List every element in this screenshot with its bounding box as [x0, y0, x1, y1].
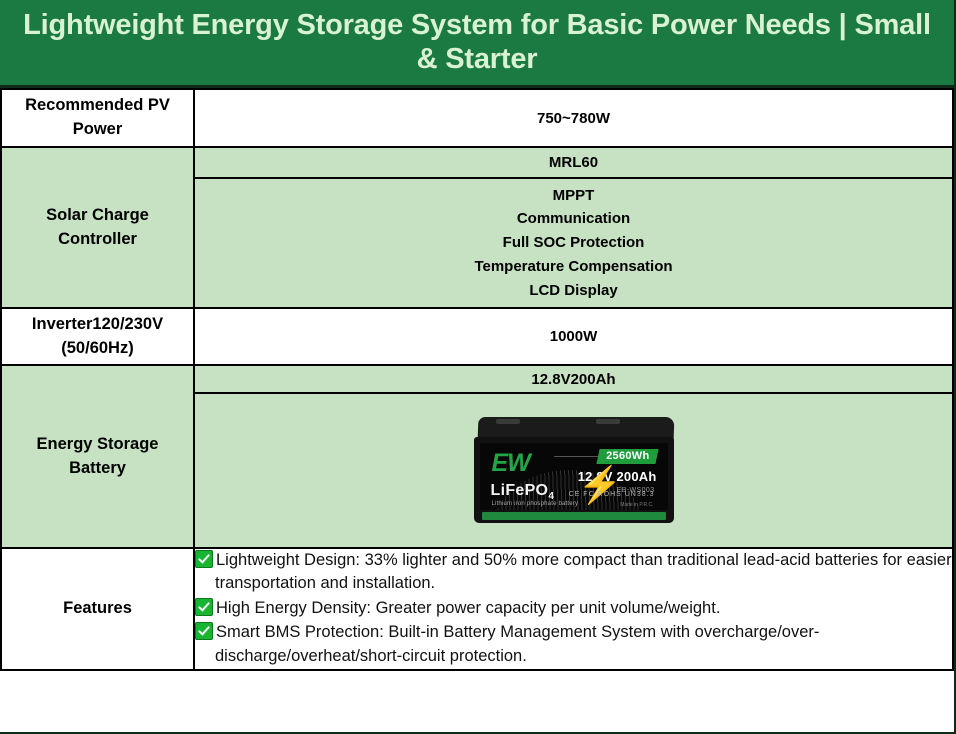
- battery-terminal-negative: [496, 419, 520, 424]
- energy-capacity-badge-text: 2560Wh: [606, 450, 649, 462]
- row-value-features: Lightweight Design: 33% lighter and 50% …: [194, 548, 953, 670]
- solar-controller-model: MRL60: [195, 148, 952, 178]
- row-value-energy-storage-battery: 12.8V200Ah: [194, 365, 953, 548]
- battery-image-row: EW LiFePO4 Lithium iron phosphate batter…: [195, 393, 952, 547]
- solar-controller-subtable: MRL60 MPPT Communication Full SOC Protec…: [195, 148, 952, 307]
- row-label-inverter: Inverter120/230V (50/60Hz): [1, 308, 194, 365]
- solar-controller-features-row: MPPT Communication Full SOC Protection T…: [195, 178, 952, 307]
- row-label-features: Features: [1, 548, 194, 670]
- solar-controller-feature-4: Temperature Compensation: [195, 255, 952, 279]
- row-label-line-1: Recommended PV: [2, 94, 193, 118]
- row-label-line-2: Battery: [2, 457, 193, 481]
- battery-illustration: EW LiFePO4 Lithium iron phosphate batter…: [468, 417, 680, 525]
- solar-controller-feature-list: MPPT Communication Full SOC Protection T…: [195, 178, 952, 307]
- row-label-line-1: Solar Charge: [2, 204, 193, 228]
- battery-subtable: 12.8V200Ah: [195, 366, 952, 547]
- feature-text: Smart BMS Protection: Built-in Battery M…: [215, 623, 819, 664]
- made-in-label: Made in P.R.C.: [620, 502, 653, 508]
- check-icon: [195, 550, 213, 568]
- ew-brand-logo: EW: [492, 451, 530, 476]
- solar-controller-feature-2: Communication: [195, 207, 952, 231]
- lifepo4-chemistry-label: LiFePO4: [491, 483, 555, 502]
- row-label-line-2: Controller: [2, 228, 193, 252]
- battery-front-label: EW LiFePO4 Lithium iron phosphate batter…: [480, 443, 668, 510]
- check-icon: [195, 622, 213, 640]
- chemistry-caption: Lithium iron phosphate battery: [492, 501, 579, 507]
- table-row-solar-charge-controller: Solar Charge Controller MRL60 MPPT: [1, 147, 953, 308]
- feature-item: Smart BMS Protection: Built-in Battery M…: [195, 621, 952, 668]
- table-row-recommended-pv-power: Recommended PV Power 750~780W: [1, 89, 953, 147]
- row-label-line-1: Inverter120/230V: [2, 313, 193, 337]
- battery-body: EW LiFePO4 Lithium iron phosphate batter…: [474, 437, 674, 523]
- header-banner: Lightweight Energy Storage System for Ba…: [0, 0, 954, 88]
- battery-spec-row: 12.8V200Ah: [195, 366, 952, 393]
- feature-text: High Energy Density: Greater power capac…: [216, 599, 720, 617]
- row-value-solar-charge-controller: MRL60 MPPT Communication Full SOC Protec…: [194, 147, 953, 308]
- row-label-solar-charge-controller: Solar Charge Controller: [1, 147, 194, 308]
- feature-item: Lightweight Design: 33% lighter and 50% …: [195, 549, 952, 596]
- row-label-line-2: (50/60Hz): [2, 337, 193, 361]
- battery-base-strip: [482, 512, 666, 520]
- specification-table: Recommended PV Power 750~780W Solar Char…: [0, 88, 954, 671]
- solar-controller-feature-1: MPPT: [195, 184, 952, 208]
- row-value-inverter: 1000W: [194, 308, 953, 365]
- certification-marks: CE FC ROHS UN38.3: [569, 491, 655, 498]
- table-row-inverter: Inverter120/230V (50/60Hz) 1000W: [1, 308, 953, 365]
- check-icon: [195, 598, 213, 616]
- row-label-recommended-pv-power: Recommended PV Power: [1, 89, 194, 147]
- battery-spec: 12.8V200Ah: [195, 366, 952, 393]
- feature-item: High Energy Density: Greater power capac…: [195, 597, 952, 620]
- spec-sheet-page: Lightweight Energy Storage System for Ba…: [0, 0, 956, 734]
- energy-capacity-badge: 2560Wh: [597, 449, 660, 464]
- table-row-energy-storage-battery: Energy Storage Battery 12.8V200Ah: [1, 365, 953, 548]
- row-label-line-1: Energy Storage: [2, 433, 193, 457]
- battery-image-cell: EW LiFePO4 Lithium iron phosphate batter…: [195, 393, 952, 547]
- feature-text: Lightweight Design: 33% lighter and 50% …: [215, 551, 952, 592]
- page-title: Lightweight Energy Storage System for Ba…: [14, 9, 940, 77]
- battery-terminal-positive: [596, 419, 620, 424]
- solar-controller-feature-5: LCD Display: [195, 279, 952, 303]
- solar-controller-feature-3: Full SOC Protection: [195, 231, 952, 255]
- lifepo4-battery-image: EW LiFePO4 Lithium iron phosphate batter…: [195, 394, 952, 547]
- row-value-recommended-pv-power: 750~780W: [194, 89, 953, 147]
- solar-controller-model-row: MRL60: [195, 148, 952, 178]
- row-label-energy-storage-battery: Energy Storage Battery: [1, 365, 194, 548]
- row-label-line-2: Power: [2, 118, 193, 142]
- table-row-features: Features Lightweight Design: 33% lighter…: [1, 548, 953, 670]
